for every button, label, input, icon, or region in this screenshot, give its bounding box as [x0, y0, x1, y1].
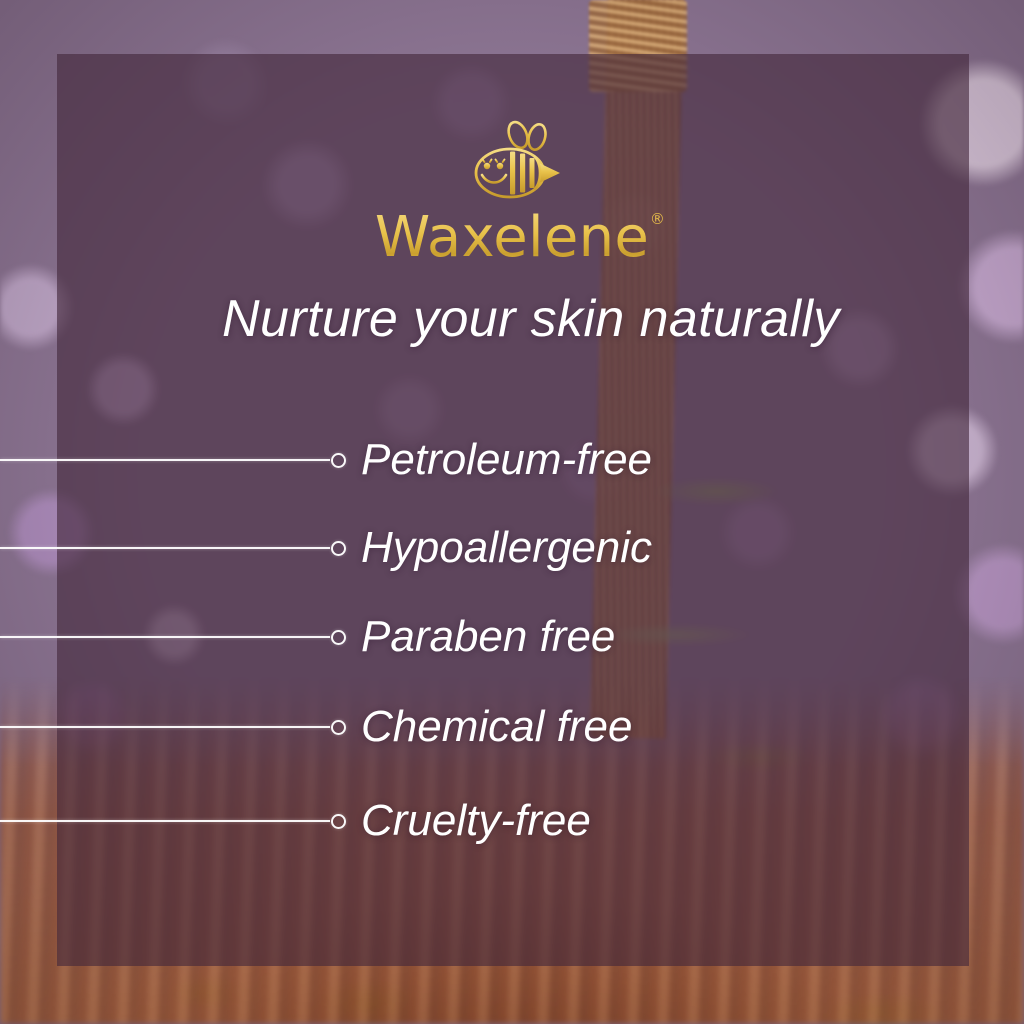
brand-wordmark-text: Waxelene: [375, 205, 649, 270]
feature-label: Petroleum-free: [361, 438, 652, 482]
feature-label: Paraben free: [361, 615, 615, 659]
feature-connector-line: [0, 636, 330, 638]
brand-logo: Waxelene®: [0, 118, 1024, 266]
feature-label: Hypoallergenic: [361, 526, 652, 570]
feature-bullet-icon: [331, 720, 346, 735]
feature-connector-line: [0, 459, 330, 461]
feature-bullet-icon: [331, 630, 346, 645]
registered-trademark-icon: ®: [650, 212, 665, 227]
advertisement-image: Waxelene® Nurture your skin naturally Pe…: [0, 0, 1024, 1024]
brand-wordmark: Waxelene®: [375, 210, 649, 266]
feature-bullet-icon: [331, 541, 346, 556]
feature-connector-line: [0, 820, 330, 822]
feature-bullet-icon: [331, 814, 346, 829]
feature-bullet-icon: [331, 453, 346, 468]
bee-icon: [460, 118, 564, 204]
feature-connector-line: [0, 547, 330, 549]
feature-label: Cruelty-free: [361, 799, 591, 843]
feature-connector-line: [0, 726, 330, 728]
feature-label: Chemical free: [361, 705, 632, 749]
page-title: Nurture your skin naturally: [222, 289, 840, 349]
